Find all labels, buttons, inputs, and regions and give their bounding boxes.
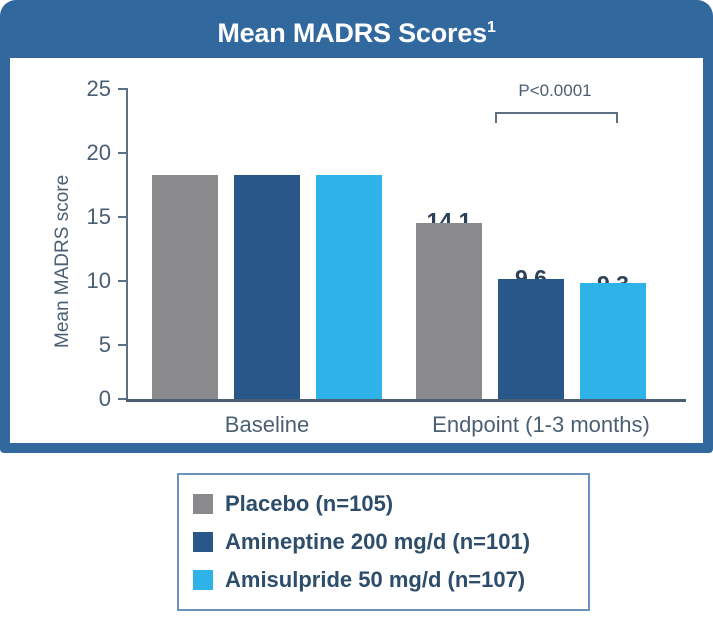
y-tick-label-25: 25 bbox=[65, 78, 111, 100]
y-tick-label-5: 5 bbox=[65, 334, 111, 356]
page-title: Mean MADRS Scores1 bbox=[0, 11, 713, 50]
x-axis-line bbox=[126, 399, 686, 402]
y-tick-label-15: 15 bbox=[65, 206, 111, 228]
legend: Placebo (n=105) Amineptine 200 mg/d (n=1… bbox=[177, 473, 590, 611]
y-tick-label-10: 10 bbox=[65, 270, 111, 292]
y-axis-line bbox=[126, 88, 128, 400]
bar-endpoint-amineptine[interactable] bbox=[498, 279, 564, 399]
bar-baseline-amisulpride[interactable] bbox=[316, 175, 382, 399]
page-title-footnote-marker: 1 bbox=[487, 19, 496, 36]
mean-madrs-scores-figure: Mean MADRS Scores1 Mean MADRS score 25 2… bbox=[0, 0, 713, 626]
significance-p-value: P<0.0001 bbox=[465, 81, 645, 101]
legend-label-placebo: Placebo (n=105) bbox=[225, 492, 393, 516]
bar-baseline-placebo[interactable] bbox=[152, 175, 218, 399]
page-title-text: Mean MADRS Scores bbox=[217, 18, 487, 48]
legend-swatch-amisulpride bbox=[193, 570, 213, 590]
chart-frame: Mean MADRS score 25 20 15 10 5 0 bbox=[0, 48, 713, 453]
bar-endpoint-amisulpride[interactable] bbox=[580, 283, 646, 399]
legend-swatch-amineptine bbox=[193, 532, 213, 552]
chart-plate: Mean MADRS score 25 20 15 10 5 0 bbox=[10, 58, 703, 443]
legend-item-placebo[interactable]: Placebo (n=105) bbox=[193, 485, 588, 523]
x-category-label-baseline: Baseline bbox=[187, 413, 347, 437]
legend-label-amisulpride: Amisulpride 50 mg/d (n=107) bbox=[225, 568, 525, 592]
y-axis-title: Mean MADRS score bbox=[52, 175, 74, 348]
bar-chart-plot: Mean MADRS score 25 20 15 10 5 0 bbox=[10, 58, 703, 443]
y-tick-label-0: 0 bbox=[65, 388, 111, 410]
legend-swatch-placebo bbox=[193, 494, 213, 514]
legend-item-amisulpride[interactable]: Amisulpride 50 mg/d (n=107) bbox=[193, 561, 588, 599]
bar-baseline-amineptine[interactable] bbox=[234, 175, 300, 399]
significance-bracket bbox=[495, 112, 618, 123]
y-tick-label-20: 20 bbox=[65, 142, 111, 164]
bar-endpoint-placebo[interactable] bbox=[416, 223, 482, 399]
x-category-label-endpoint: Endpoint (1-3 months) bbox=[411, 413, 671, 437]
legend-item-amineptine[interactable]: Amineptine 200 mg/d (n=101) bbox=[193, 523, 588, 561]
legend-label-amineptine: Amineptine 200 mg/d (n=101) bbox=[225, 530, 530, 554]
